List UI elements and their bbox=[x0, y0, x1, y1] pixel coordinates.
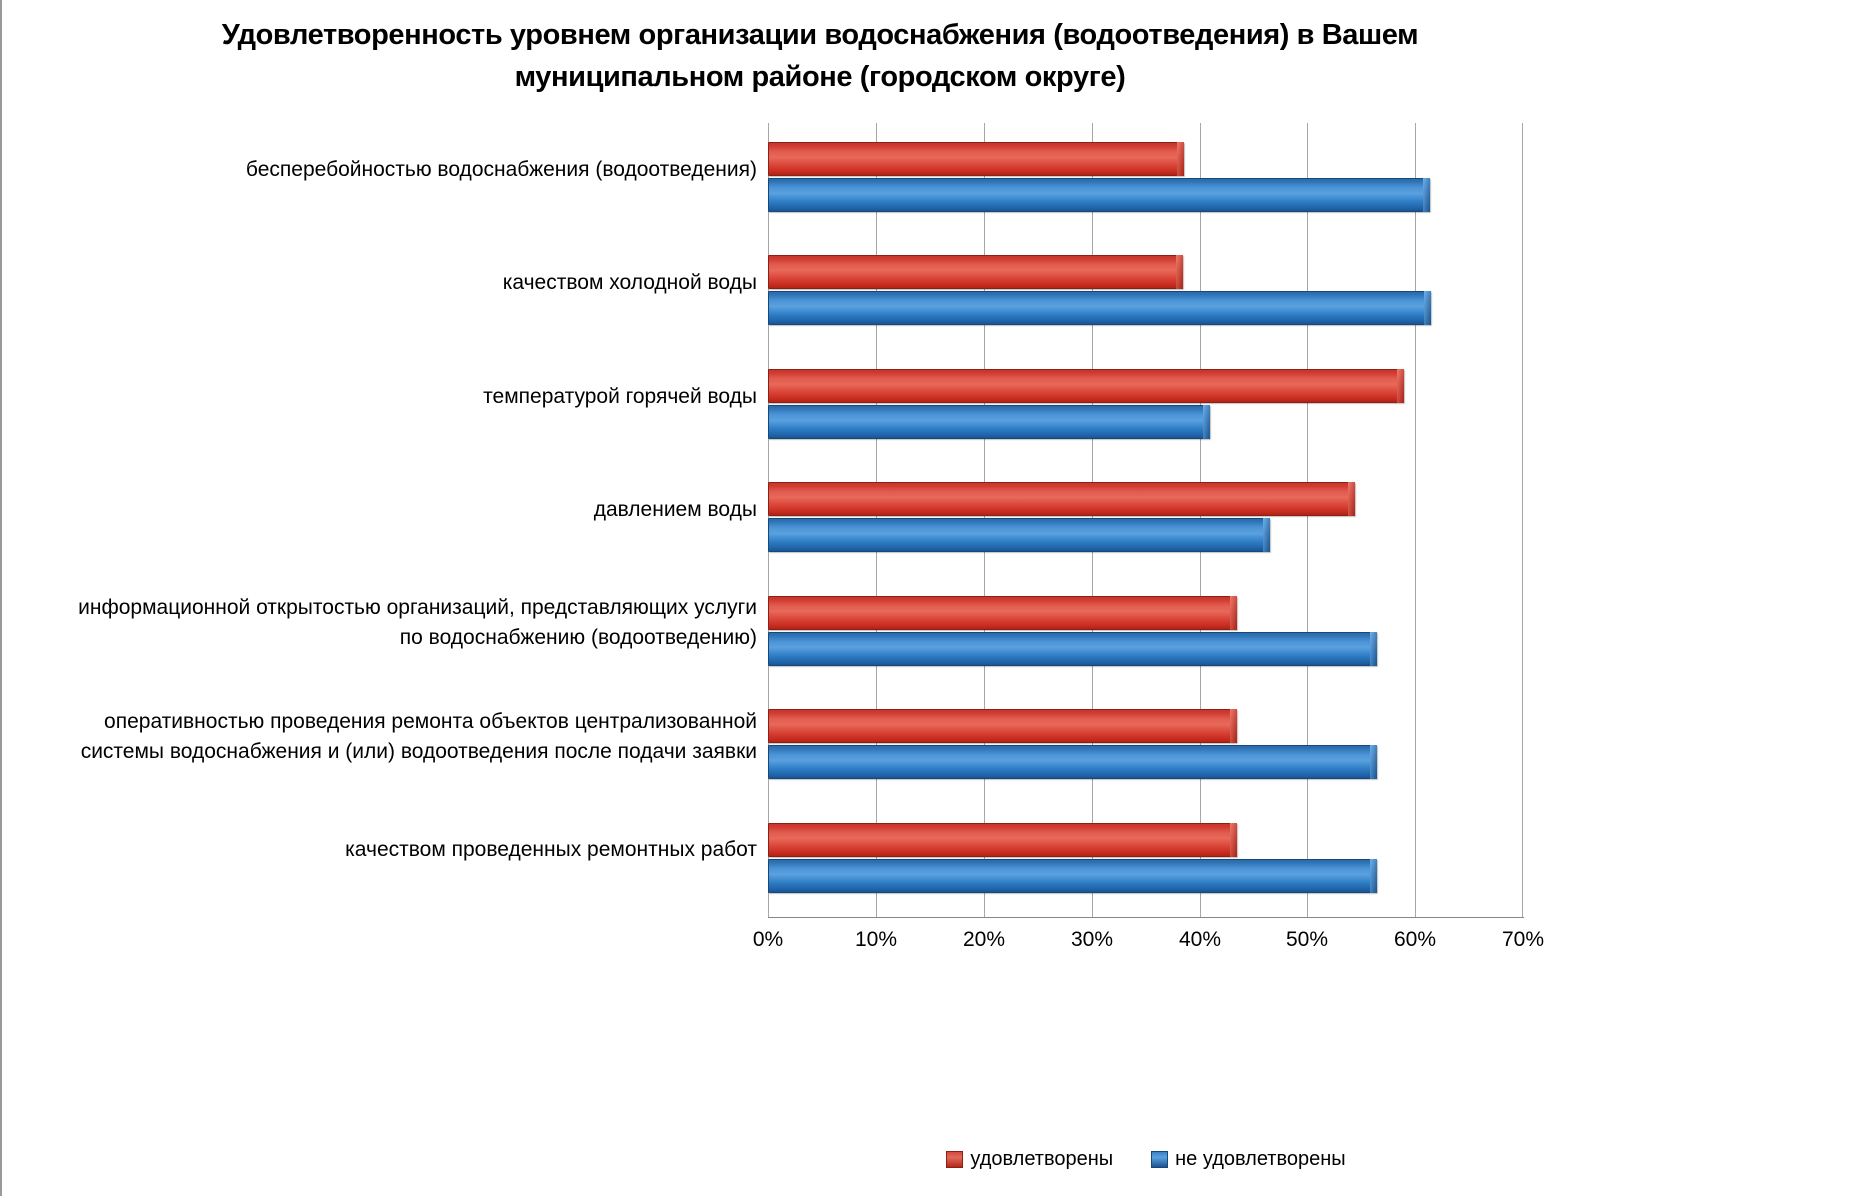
bar-group-2 bbox=[768, 350, 1523, 463]
chart-title: Удовлетворенность уровнем организации во… bbox=[150, 14, 1490, 98]
bar-cap bbox=[1230, 823, 1237, 857]
legend-swatch-icon-not-satisfied bbox=[1151, 1151, 1168, 1168]
xtick-label-4: 40% bbox=[1155, 928, 1245, 952]
bar-cap bbox=[1370, 632, 1377, 666]
x-axis-line bbox=[768, 917, 1524, 918]
legend-swatch-icon-satisfied bbox=[946, 1151, 963, 1168]
category-label-4: информационной открытостью организаций, … bbox=[12, 593, 757, 653]
xtick-label-2: 20% bbox=[939, 928, 1029, 952]
category-label-1: качеством холодной воды bbox=[12, 268, 757, 298]
xtick-label-6: 60% bbox=[1370, 928, 1460, 952]
bar-cap bbox=[1263, 518, 1270, 552]
bar-cap bbox=[1177, 142, 1184, 176]
bar-not-satisfied-2[interactable] bbox=[768, 405, 1210, 439]
bar-group-5 bbox=[768, 690, 1523, 803]
xtick-label-3: 30% bbox=[1047, 928, 1137, 952]
legend-label-satisfied: удовлетворены bbox=[970, 1148, 1113, 1171]
category-label-0-line-0: бесперебойностью водоснабжения (водоотве… bbox=[12, 155, 757, 185]
xtick-label-1: 10% bbox=[831, 928, 921, 952]
legend-item-not-satisfied[interactable]: не удовлетворены bbox=[1151, 1148, 1346, 1171]
chart-legend: удовлетворены не удовлетворены bbox=[768, 1148, 1524, 1171]
plot-area bbox=[768, 123, 1523, 917]
category-label-5-line-1: системы водоснабжения и (или) водоотведе… bbox=[12, 737, 757, 767]
bar-group-1 bbox=[768, 236, 1523, 349]
category-label-5: оперативностью проведения ремонта объект… bbox=[12, 707, 757, 767]
category-label-4-line-1: по водоснабжению (водоотведению) bbox=[12, 623, 757, 653]
bar-satisfied-1[interactable] bbox=[768, 255, 1183, 289]
legend-item-satisfied[interactable]: удовлетворены bbox=[946, 1148, 1113, 1171]
bar-cap bbox=[1230, 596, 1237, 630]
chart-container: Удовлетворенность уровнем организации во… bbox=[0, 0, 1855, 1196]
bar-cap bbox=[1397, 369, 1404, 403]
xtick-label-7: 70% bbox=[1478, 928, 1568, 952]
category-label-3-line-0: давлением воды bbox=[12, 495, 757, 525]
bar-not-satisfied-1[interactable] bbox=[768, 291, 1431, 325]
bar-satisfied-4[interactable] bbox=[768, 596, 1237, 630]
bar-cap bbox=[1230, 709, 1237, 743]
bar-not-satisfied-5[interactable] bbox=[768, 745, 1377, 779]
xtick-label-0: 0% bbox=[723, 928, 813, 952]
category-label-3: давлением воды bbox=[12, 495, 757, 525]
bar-cap bbox=[1370, 745, 1377, 779]
category-label-1-line-0: качеством холодной воды bbox=[12, 268, 757, 298]
bar-cap bbox=[1424, 291, 1431, 325]
bar-satisfied-6[interactable] bbox=[768, 823, 1237, 857]
bar-not-satisfied-3[interactable] bbox=[768, 518, 1270, 552]
category-label-6: качеством проведенных ремонтных работ bbox=[12, 835, 757, 865]
bar-satisfied-5[interactable] bbox=[768, 709, 1237, 743]
bar-cap bbox=[1348, 482, 1355, 516]
bar-group-3 bbox=[768, 463, 1523, 576]
bar-not-satisfied-0[interactable] bbox=[768, 178, 1430, 212]
xtick-label-5: 50% bbox=[1262, 928, 1352, 952]
category-label-0: бесперебойностью водоснабжения (водоотве… bbox=[12, 155, 757, 185]
category-label-5-line-0: оперативностью проведения ремонта объект… bbox=[12, 707, 757, 737]
category-label-6-line-0: качеством проведенных ремонтных работ bbox=[12, 835, 757, 865]
bar-satisfied-2[interactable] bbox=[768, 369, 1404, 403]
bar-group-4 bbox=[768, 577, 1523, 690]
bar-cap bbox=[1176, 255, 1183, 289]
bar-cap bbox=[1370, 859, 1377, 893]
bar-cap bbox=[1423, 178, 1430, 212]
category-label-2: температурой горячей воды bbox=[12, 382, 757, 412]
bar-satisfied-3[interactable] bbox=[768, 482, 1355, 516]
chart-title-line-2: муниципальном районе (городском округе) bbox=[150, 56, 1490, 98]
bar-group-0 bbox=[768, 123, 1523, 236]
bar-cap bbox=[1203, 405, 1210, 439]
left-edge-divider bbox=[0, 0, 2, 1196]
bar-group-6 bbox=[768, 804, 1523, 917]
legend-label-not-satisfied: не удовлетворены bbox=[1175, 1148, 1346, 1171]
bar-satisfied-0[interactable] bbox=[768, 142, 1184, 176]
bar-not-satisfied-6[interactable] bbox=[768, 859, 1377, 893]
chart-title-line-1: Удовлетворенность уровнем организации во… bbox=[150, 14, 1490, 56]
category-label-4-line-0: информационной открытостью организаций, … bbox=[12, 593, 757, 623]
category-label-2-line-0: температурой горячей воды bbox=[12, 382, 757, 412]
bar-not-satisfied-4[interactable] bbox=[768, 632, 1377, 666]
